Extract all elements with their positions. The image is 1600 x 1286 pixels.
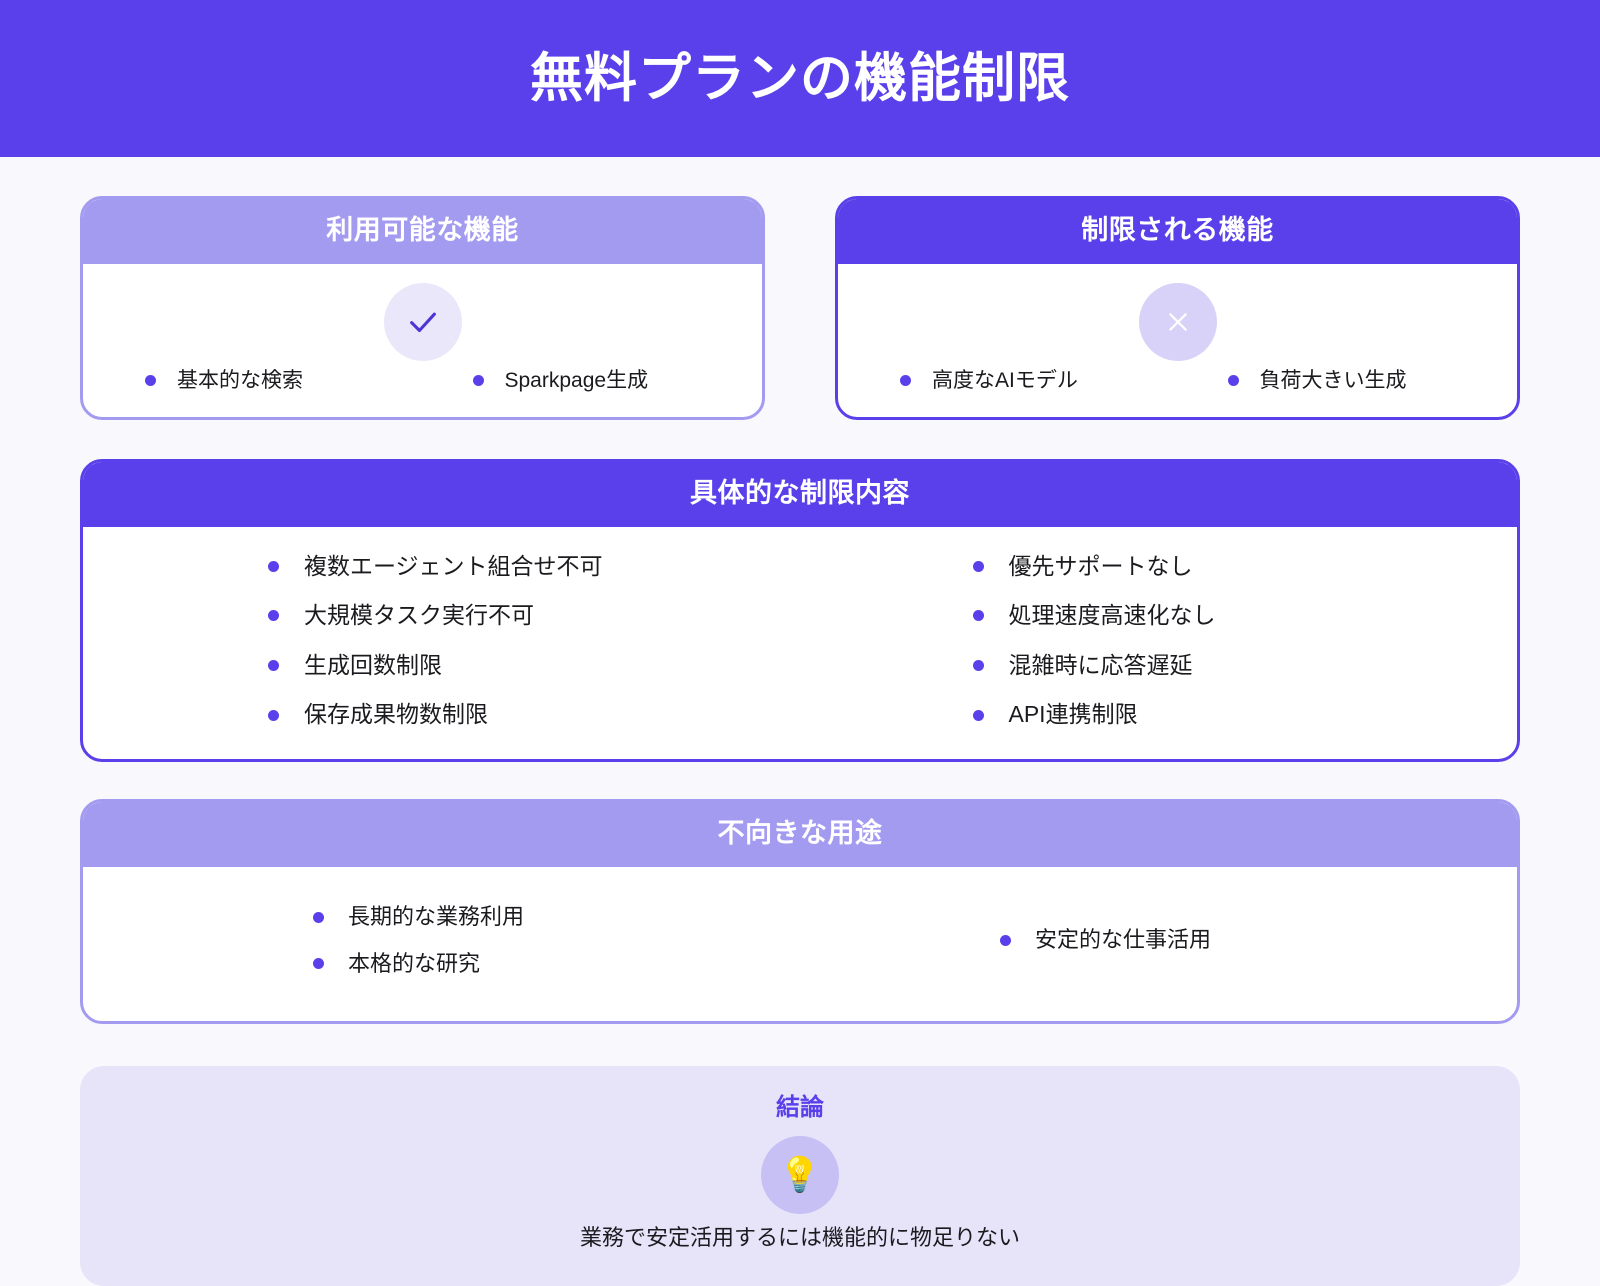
item-label: 本格的な研究 <box>348 951 480 977</box>
card-restricted-items: 高度なAIモデル 負荷大きい生成 <box>838 368 1517 417</box>
card-restricted-header: 制限される機能 <box>838 199 1517 264</box>
card-unsuitable-header: 不向きな用途 <box>83 802 1517 867</box>
bullet-dot-icon <box>900 375 911 386</box>
bullet-dot-icon <box>313 912 324 923</box>
bullet-dot-icon <box>973 610 984 621</box>
details-right-column: 優先サポートなし 処理速度高速化なし 混雑時に応答遅延 API連携制限 <box>813 553 1518 729</box>
item-label: 保存成果物数制限 <box>304 701 488 729</box>
conclusion-title: 結論 <box>80 1096 1520 1120</box>
item-label: 高度なAIモデル <box>932 368 1078 393</box>
list-item: 生成回数制限 <box>268 652 813 680</box>
bullet-dot-icon <box>973 660 984 671</box>
card-available-items: 基本的な検索 Sparkpage生成 <box>83 368 762 417</box>
bullet-dot-icon <box>1000 935 1011 946</box>
item-label: 混雑時に応答遅延 <box>1009 652 1193 680</box>
details-left-column: 複数エージェント組合せ不可 大規模タスク実行不可 生成回数制限 保存成果物数制限 <box>83 553 813 729</box>
lightbulb-glyph: 💡 <box>779 1158 821 1192</box>
card-restriction-details: 具体的な制限内容 複数エージェント組合せ不可 大規模タスク実行不可 生成回数制限 <box>80 459 1520 762</box>
page-title: 無料プランの機能制限 <box>530 52 1070 105</box>
list-item: 負荷大きい生成 <box>1190 368 1518 393</box>
unsuitable-right-column: 安定的な仕事活用 <box>830 927 1517 953</box>
card-unsuitable-uses: 不向きな用途 長期的な業務利用 本格的な研究 安定的な仕事活用 <box>80 799 1520 1024</box>
page-header: 無料プランの機能制限 <box>0 0 1600 157</box>
list-item: 基本的な検索 <box>83 368 435 393</box>
bullet-dot-icon <box>313 958 324 969</box>
conclusion-panel: 結論 💡 業務で安定活用するには機能的に物足りない <box>80 1066 1520 1286</box>
item-label: 負荷大きい生成 <box>1260 368 1407 393</box>
bullet-dot-icon <box>268 610 279 621</box>
bullet-dot-icon <box>268 710 279 721</box>
item-label: API連携制限 <box>1009 701 1138 729</box>
list-item: 優先サポートなし <box>973 553 1518 581</box>
bullet-dot-icon <box>973 710 984 721</box>
item-label: Sparkpage生成 <box>505 368 649 393</box>
card-available-body: 基本的な検索 Sparkpage生成 <box>83 283 762 417</box>
conclusion-text: 業務で安定活用するには機能的に物足りない <box>80 1224 1520 1253</box>
item-label: 処理速度高速化なし <box>1009 602 1216 630</box>
check-icon <box>384 283 462 361</box>
list-item: 本格的な研究 <box>313 951 830 977</box>
list-item: 安定的な仕事活用 <box>1000 927 1517 953</box>
card-details-header: 具体的な制限内容 <box>83 462 1517 527</box>
item-label: 大規模タスク実行不可 <box>304 602 534 630</box>
list-item: 処理速度高速化なし <box>973 602 1518 630</box>
list-item: 保存成果物数制限 <box>268 701 813 729</box>
lightbulb-icon: 💡 <box>761 1136 839 1214</box>
unsuitable-left-column: 長期的な業務利用 本格的な研究 <box>83 904 830 977</box>
card-restricted-body: 高度なAIモデル 負荷大きい生成 <box>838 283 1517 417</box>
item-label: 基本的な検索 <box>177 368 303 393</box>
bullet-dot-icon <box>1228 375 1239 386</box>
list-item: Sparkpage生成 <box>435 368 763 393</box>
bullet-dot-icon <box>268 660 279 671</box>
card-available-header: 利用可能な機能 <box>83 199 762 264</box>
bullet-dot-icon <box>973 561 984 572</box>
list-item: 複数エージェント組合せ不可 <box>268 553 813 581</box>
list-item: 大規模タスク実行不可 <box>268 602 813 630</box>
list-item: 混雑時に応答遅延 <box>973 652 1518 680</box>
card-available-features: 利用可能な機能 基本的な検索 <box>80 196 765 420</box>
card-details-body: 複数エージェント組合せ不可 大規模タスク実行不可 生成回数制限 保存成果物数制限 <box>83 527 1517 759</box>
list-item: 高度なAIモデル <box>838 368 1190 393</box>
card-restricted-features: 制限される機能 高度なAIモデル <box>835 196 1520 420</box>
card-unsuitable-body: 長期的な業務利用 本格的な研究 安定的な仕事活用 <box>83 867 1517 1021</box>
item-label: 長期的な業務利用 <box>348 904 524 930</box>
item-label: 優先サポートなし <box>1009 553 1193 581</box>
list-item: 長期的な業務利用 <box>313 904 830 930</box>
list-item: API連携制限 <box>973 701 1518 729</box>
bullet-dot-icon <box>473 375 484 386</box>
close-icon <box>1139 283 1217 361</box>
item-label: 複数エージェント組合せ不可 <box>304 553 603 581</box>
page-content: 利用可能な機能 基本的な検索 <box>0 196 1600 1286</box>
top-card-row: 利用可能な機能 基本的な検索 <box>80 196 1520 420</box>
item-label: 安定的な仕事活用 <box>1035 927 1211 953</box>
item-label: 生成回数制限 <box>304 652 442 680</box>
bullet-dot-icon <box>145 375 156 386</box>
bullet-dot-icon <box>268 561 279 572</box>
